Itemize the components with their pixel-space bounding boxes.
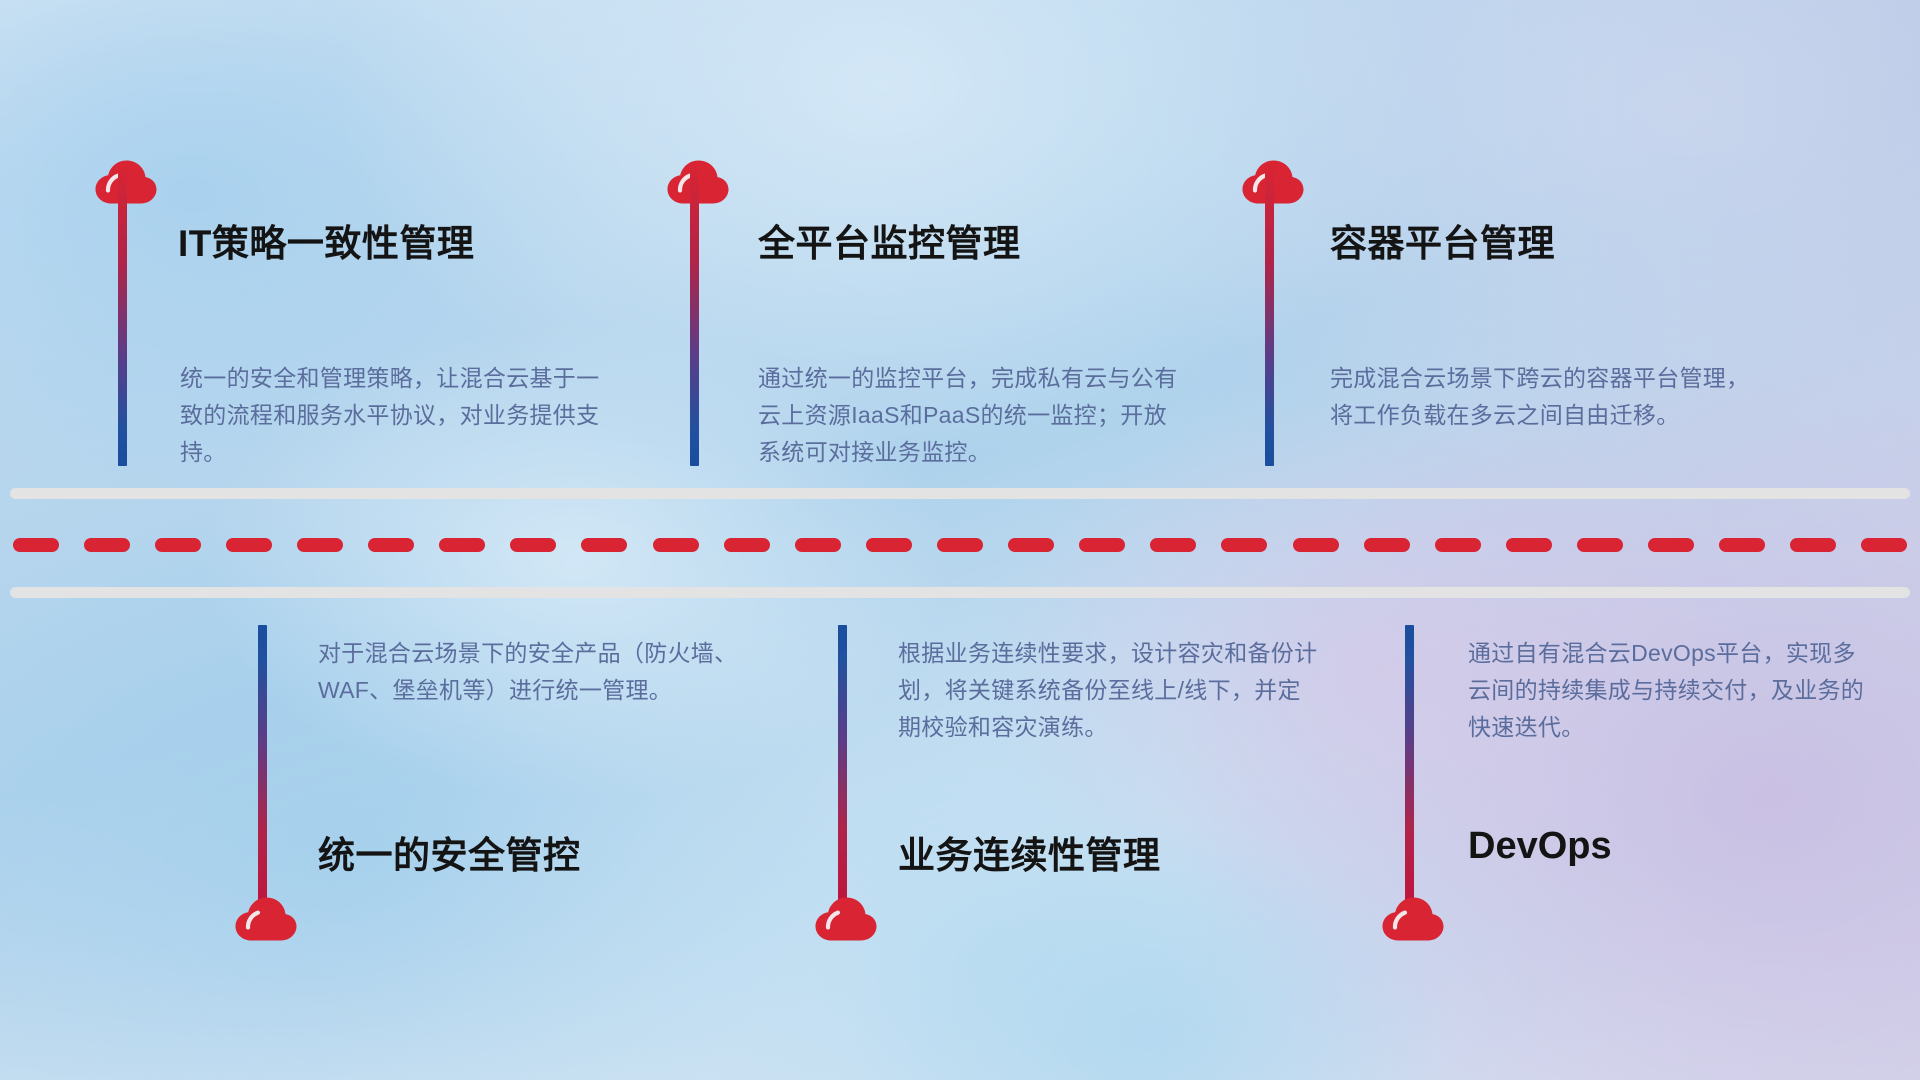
feature-description: 通过自有混合云DevOps平台，实现多云间的持续集成与持续交付，及业务的快速迭代… <box>1468 635 1868 746</box>
divider-dash <box>1577 538 1623 552</box>
divider-dashed-line <box>0 538 1920 552</box>
divider-dash <box>226 538 272 552</box>
feature-title: 全平台监控管理 <box>758 213 1021 267</box>
divider-dash <box>368 538 414 552</box>
connector-bar <box>1405 625 1414 910</box>
connector-bar <box>1265 168 1274 466</box>
divider-dash <box>937 538 983 552</box>
feature-title: IT策略一致性管理 <box>178 213 474 267</box>
feature-description: 通过统一的监控平台，完成私有云与公有云上资源IaaS和PaaS的统一监控；开放系… <box>758 360 1188 471</box>
connector-bar <box>838 625 847 910</box>
divider-dash <box>653 538 699 552</box>
divider-dash <box>724 538 770 552</box>
divider-line-top <box>10 488 1910 499</box>
divider-dash <box>1079 538 1125 552</box>
divider-dash <box>1506 538 1552 552</box>
divider-dash <box>1861 538 1907 552</box>
feature-title: DevOps <box>1468 825 1612 868</box>
divider-dash <box>439 538 485 552</box>
connector-bar <box>258 625 267 910</box>
feature-description: 完成混合云场景下跨云的容器平台管理，将工作负载在多云之间自由迁移。 <box>1330 360 1760 434</box>
divider-dash <box>510 538 556 552</box>
connector-bar <box>690 168 699 466</box>
section-divider <box>0 488 1920 598</box>
divider-dash <box>795 538 841 552</box>
cloud-icon <box>815 897 877 941</box>
divider-dash <box>1150 538 1196 552</box>
divider-dash <box>13 538 59 552</box>
divider-dash <box>1435 538 1481 552</box>
divider-dash <box>1293 538 1339 552</box>
cloud-icon <box>1382 897 1444 941</box>
divider-dash <box>1719 538 1765 552</box>
feature-description: 统一的安全和管理策略，让混合云基于一致的流程和服务水平协议，对业务提供支持。 <box>180 360 600 471</box>
feature-title: 业务连续性管理 <box>898 825 1161 879</box>
divider-dash <box>581 538 627 552</box>
feature-title: 容器平台管理 <box>1330 213 1555 267</box>
divider-dash <box>866 538 912 552</box>
divider-dash <box>84 538 130 552</box>
cloud-icon <box>235 897 297 941</box>
divider-dash <box>297 538 343 552</box>
connector-bar <box>118 168 127 466</box>
divider-dash <box>1648 538 1694 552</box>
divider-dash <box>1221 538 1267 552</box>
divider-dash <box>1008 538 1054 552</box>
feature-description: 根据业务连续性要求，设计容灾和备份计划，将关键系统备份至线上/线下，并定期校验和… <box>898 635 1318 746</box>
divider-line-bottom <box>10 587 1910 598</box>
divider-dash <box>1790 538 1836 552</box>
feature-description: 对于混合云场景下的安全产品（防火墙、WAF、堡垒机等）进行统一管理。 <box>318 635 738 709</box>
feature-title: 统一的安全管控 <box>318 825 581 879</box>
divider-dash <box>155 538 201 552</box>
divider-dash <box>1364 538 1410 552</box>
